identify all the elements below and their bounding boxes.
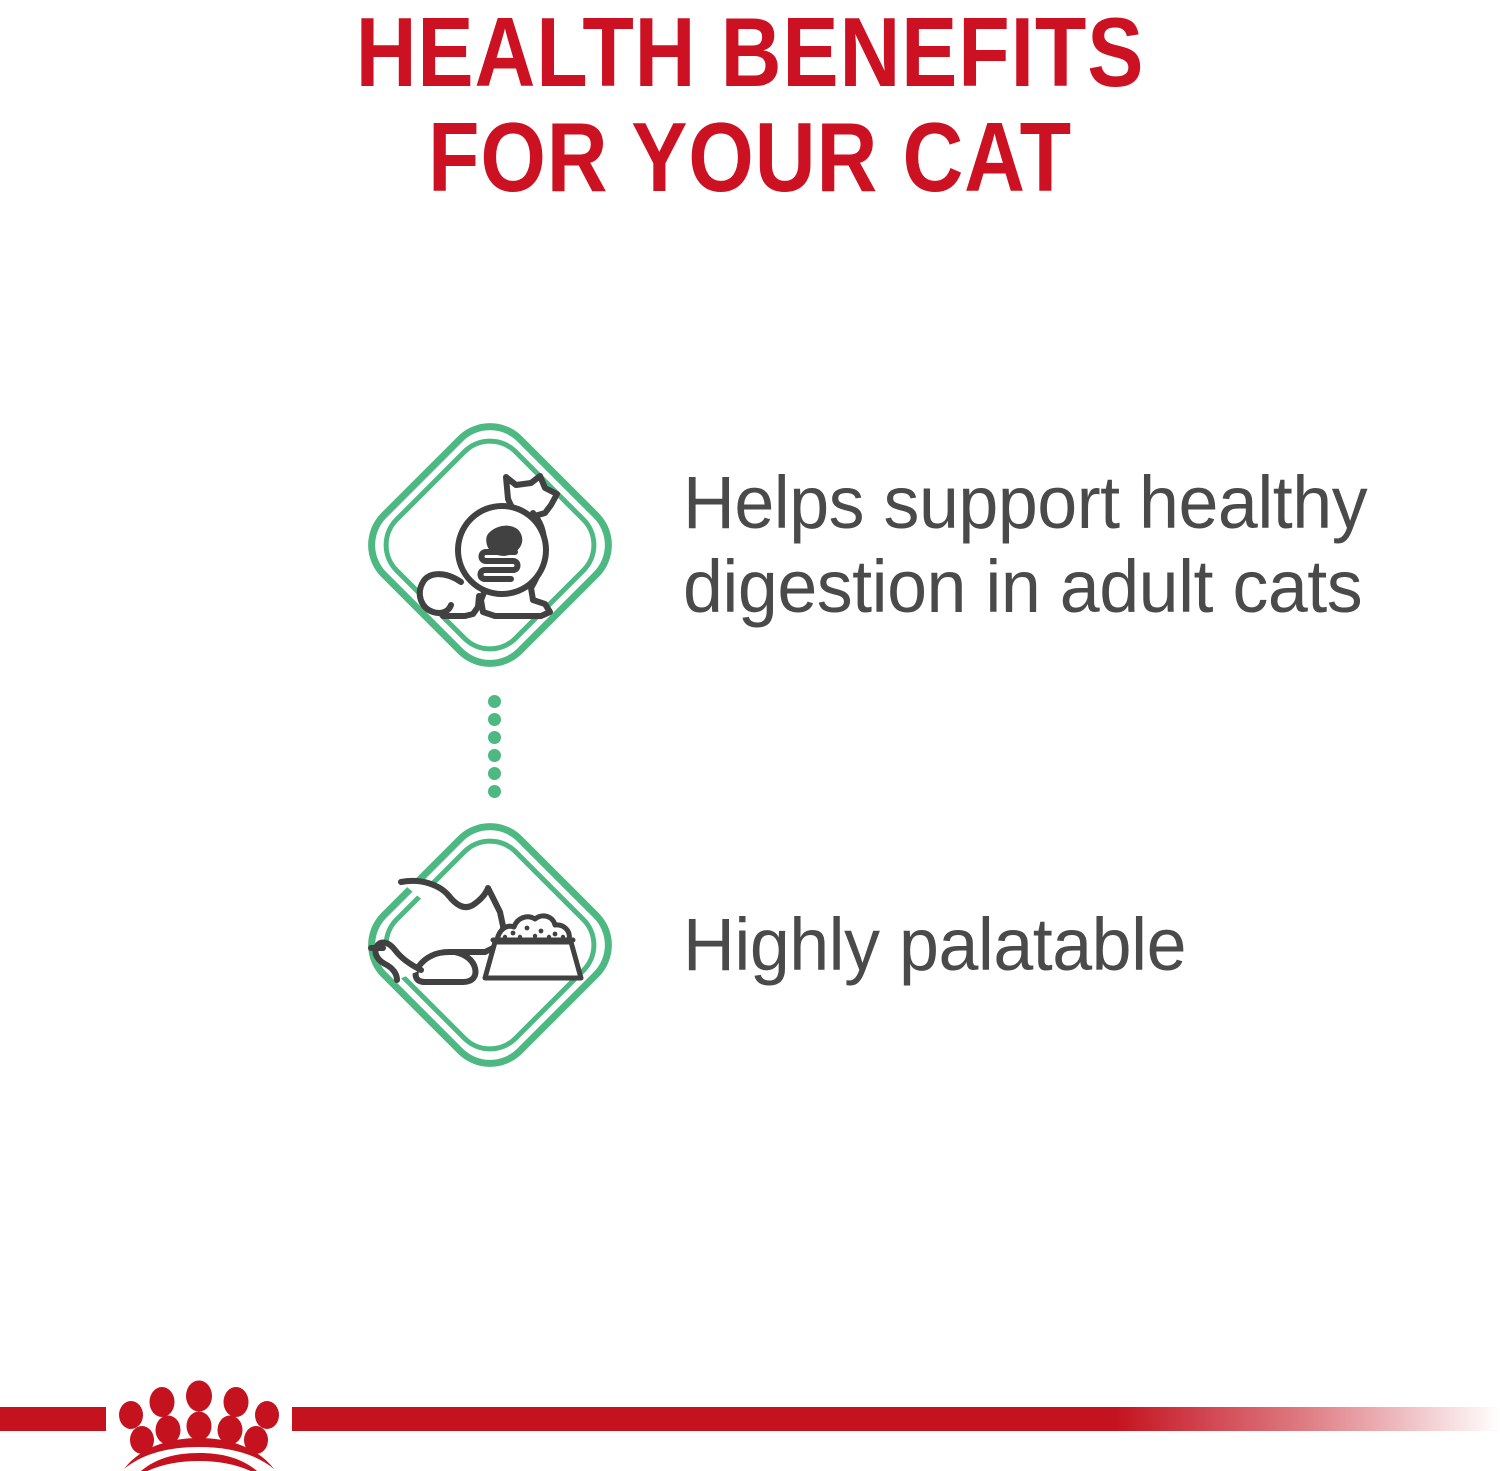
connector-dot <box>488 749 501 762</box>
connector-dot <box>488 767 501 780</box>
cat-digestion-icon <box>345 400 635 690</box>
connector-dot <box>488 713 501 726</box>
benefit-item-palatable: Highly palatable <box>0 800 1500 1090</box>
benefit-label-digestion: Helps support healthy digestion in adult… <box>683 461 1429 629</box>
benefit-item-digestion: Helps support healthy digestion in adult… <box>0 400 1500 690</box>
page-title: HEALTH BENEFITS FOR YOUR CAT <box>0 0 1500 210</box>
title-line-1: HEALTH BENEFITS <box>105 0 1395 105</box>
royal-canin-crown-logo <box>110 1368 290 1471</box>
connector-dot <box>488 731 501 744</box>
footer <box>0 1360 1500 1471</box>
dotted-connector <box>481 695 509 795</box>
benefit-label-palatable: Highly palatable <box>683 903 1429 987</box>
connector-dot <box>488 695 501 708</box>
connector-dot <box>488 785 501 798</box>
title-line-2: FOR YOUR CAT <box>105 105 1395 210</box>
footer-bar-left <box>0 1407 106 1431</box>
cat-eating-bowl-icon <box>345 800 635 1090</box>
footer-bar-right <box>292 1407 1500 1431</box>
